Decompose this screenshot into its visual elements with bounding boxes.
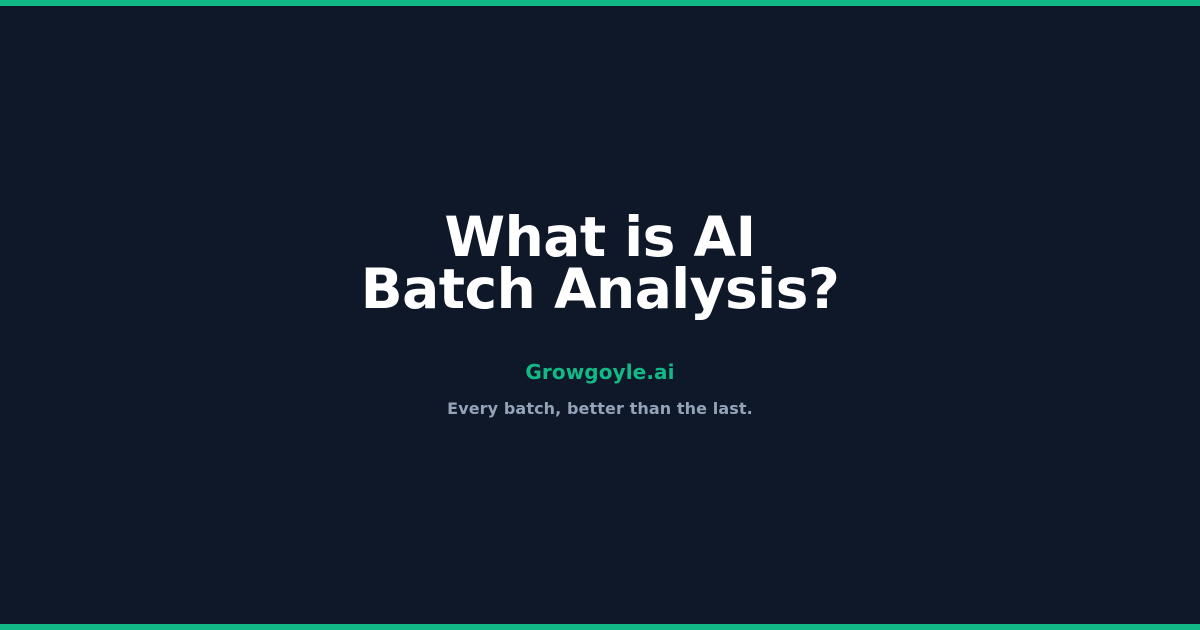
page-title-line-1: What is AI <box>361 211 840 263</box>
social-share-card: What is AI Batch Analysis? Growgoyle.ai … <box>0 0 1200 630</box>
top-accent-bar <box>0 0 1200 6</box>
bottom-accent-bar <box>0 624 1200 630</box>
page-title-line-2: Batch Analysis? <box>361 263 840 315</box>
brand-tagline: Every batch, better than the last. <box>447 401 753 417</box>
page-title: What is AI Batch Analysis? <box>361 211 840 315</box>
brand-name: Growgoyle.ai <box>525 362 674 382</box>
card-content: What is AI Batch Analysis? Growgoyle.ai … <box>0 211 1200 417</box>
